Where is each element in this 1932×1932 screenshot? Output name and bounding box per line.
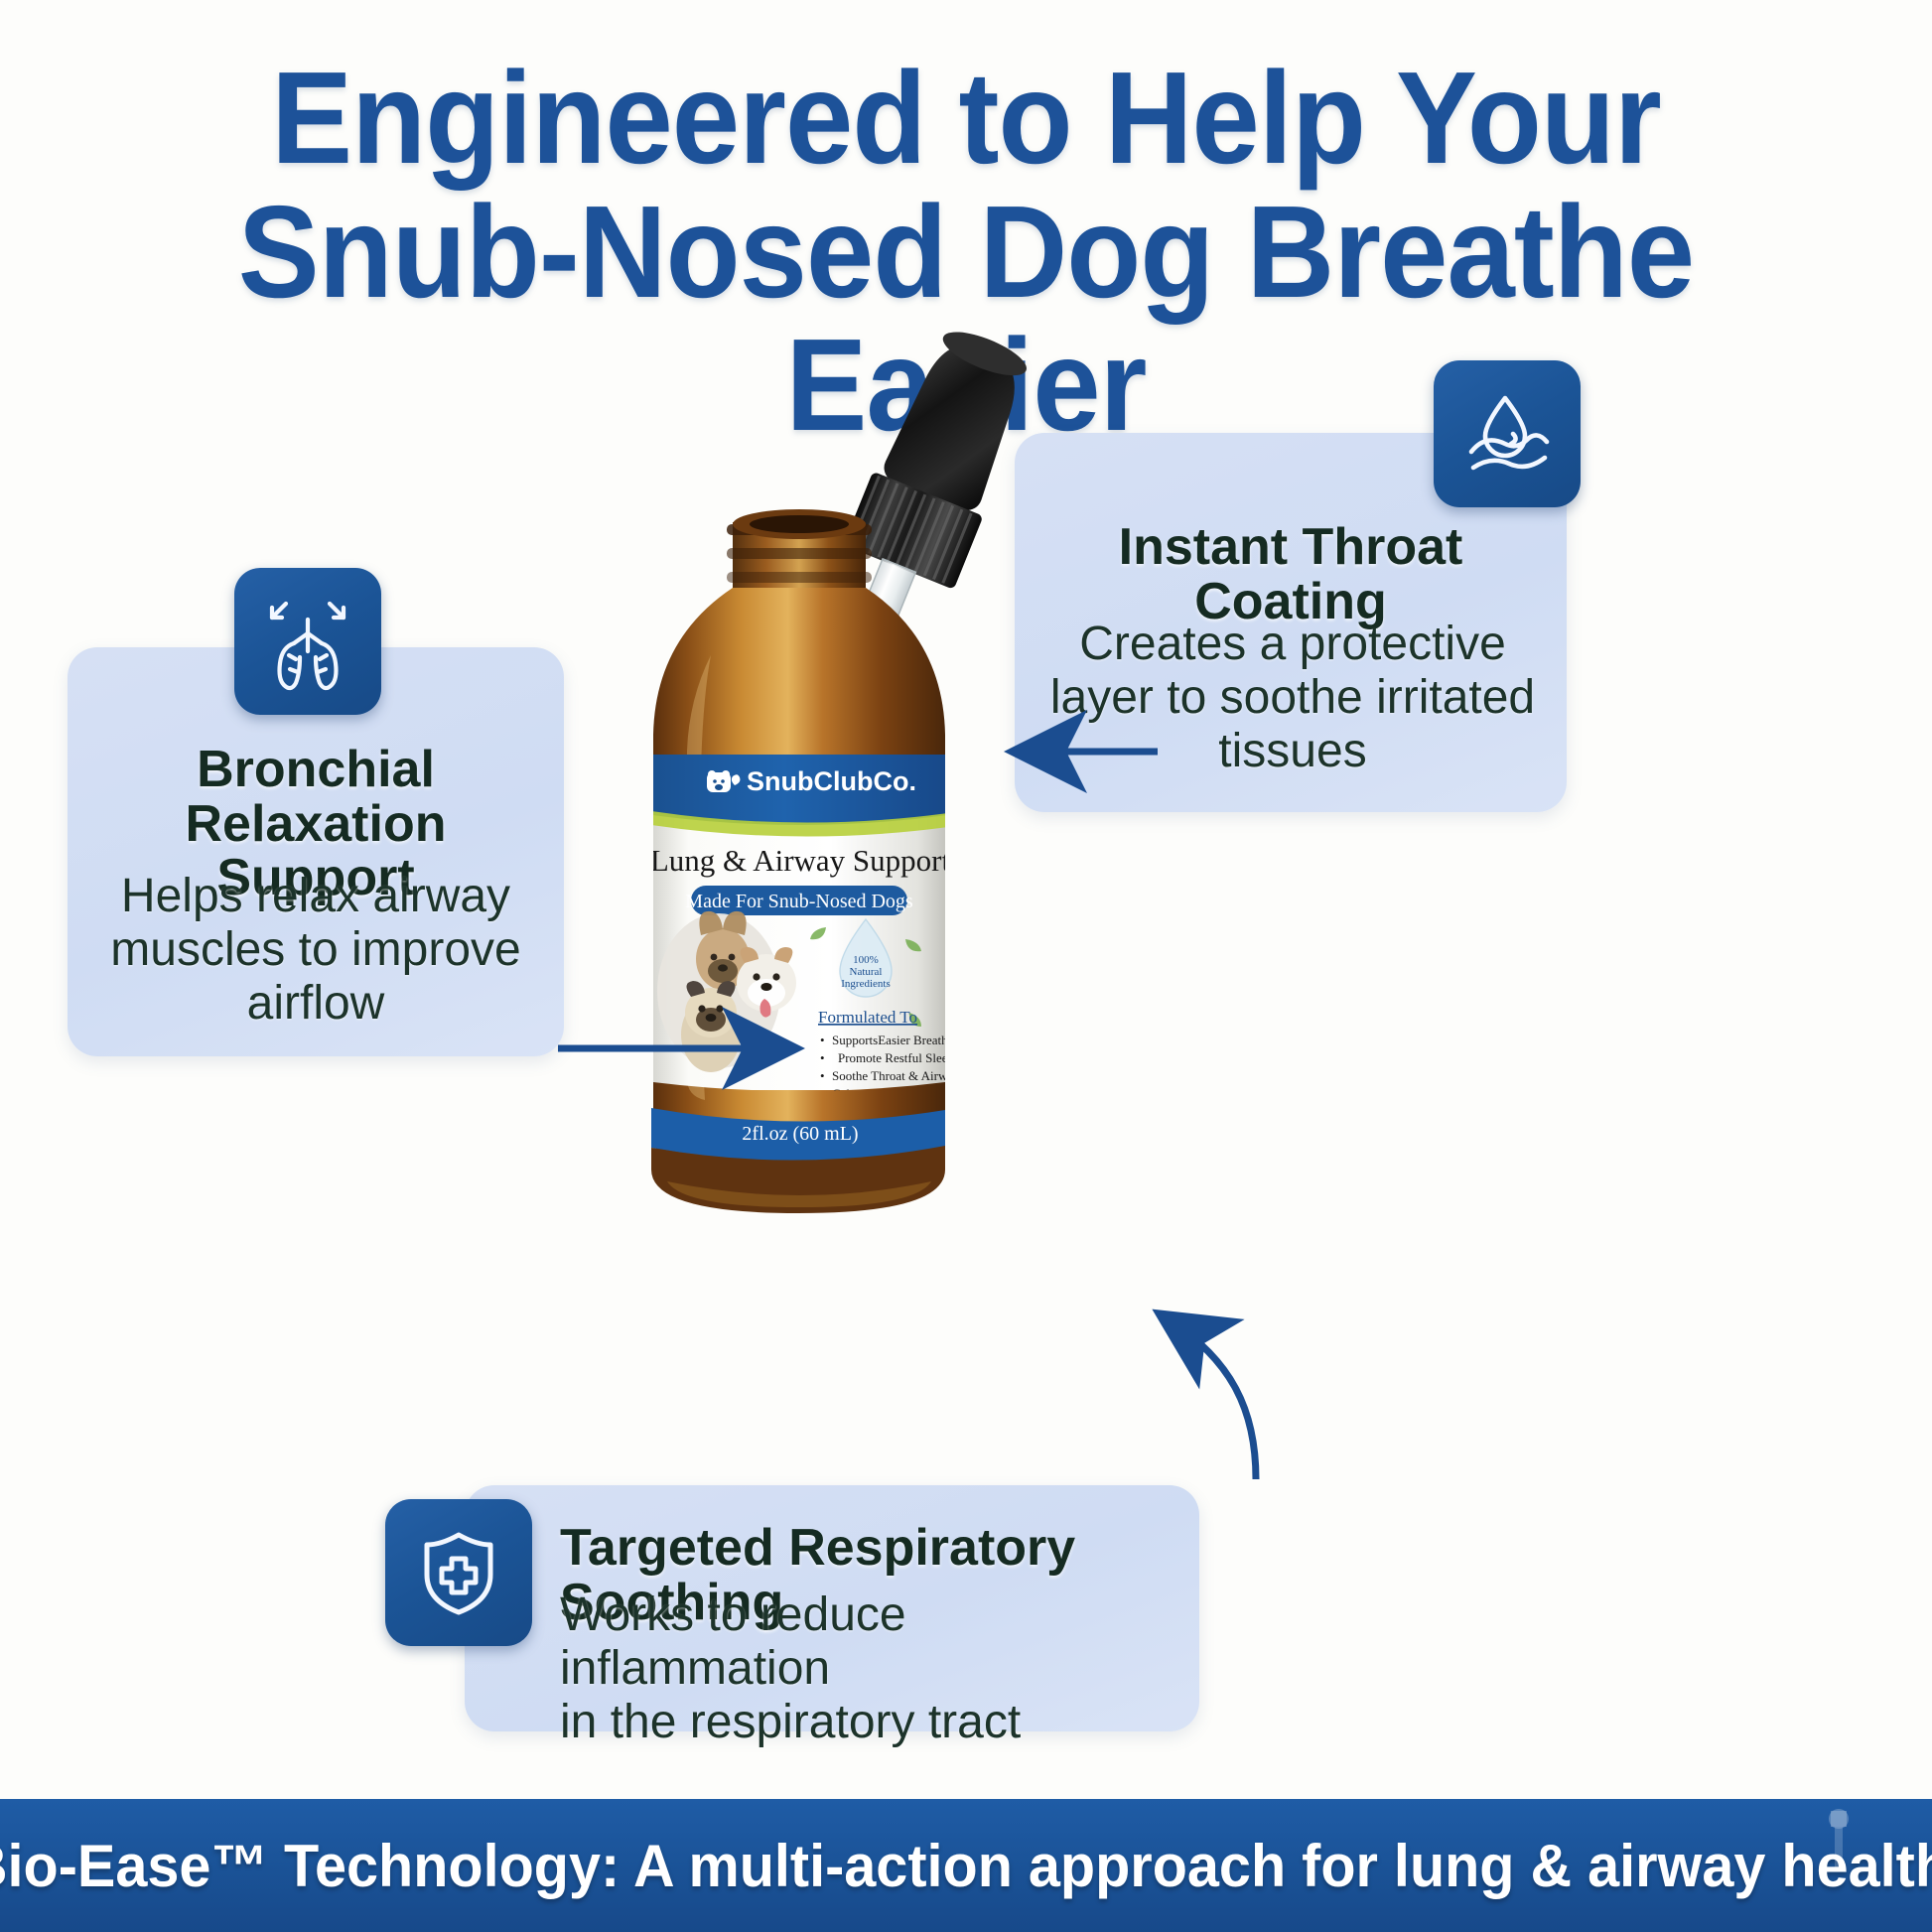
infographic-stage: Engineered to Help Your Snub-Nosed Dog B… <box>0 0 1932 1932</box>
dropper-watermark-icon <box>1817 1807 1861 1876</box>
footer-bar: Bio-Ease™ Technology: A multi-action app… <box>0 1799 1932 1932</box>
arrow-bottom-to-bottle <box>1170 1320 1256 1479</box>
connector-arrows <box>0 0 1932 1932</box>
footer-text: Bio-Ease™ Technology: A multi-action app… <box>0 1832 1932 1900</box>
